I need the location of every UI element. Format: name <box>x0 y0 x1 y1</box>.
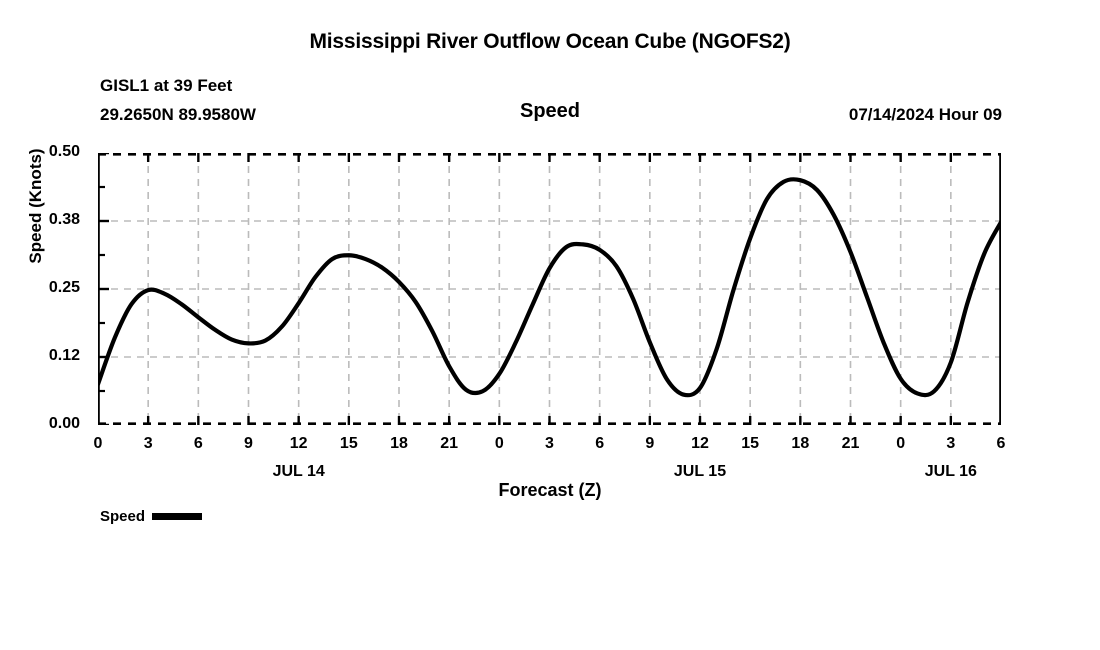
x-tick-label: 0 <box>479 435 519 453</box>
x-tick-label: 12 <box>279 435 319 453</box>
legend-swatch-speed <box>152 513 202 520</box>
x-tick-label: 21 <box>429 435 469 453</box>
chart-page: Mississippi River Outflow Ocean Cube (NG… <box>0 0 1100 650</box>
speed-line-chart <box>98 153 1001 425</box>
x-tick-label: 12 <box>680 435 720 453</box>
x-tick-label: 6 <box>178 435 218 453</box>
y-tick-label: 0.00 <box>20 415 80 433</box>
x-tick-label: 0 <box>78 435 118 453</box>
x-tick-label: 3 <box>128 435 168 453</box>
x-tick-label: 0 <box>881 435 921 453</box>
y-tick-label: 0.12 <box>20 347 80 365</box>
chart-legend: Speed <box>100 508 202 525</box>
y-tick-label: 0.50 <box>20 143 80 161</box>
x-tick-label: 21 <box>831 435 871 453</box>
x-axis-day-label: JUL 16 <box>906 463 996 481</box>
station-label: GISL1 at 39 Feet <box>100 76 232 96</box>
y-tick-label: 0.25 <box>20 279 80 297</box>
x-axis-title: Forecast (Z) <box>0 480 1100 501</box>
page-title: Mississippi River Outflow Ocean Cube (NG… <box>0 30 1100 54</box>
plot-area <box>98 153 1001 425</box>
x-tick-label: 6 <box>580 435 620 453</box>
x-tick-label: 18 <box>379 435 419 453</box>
x-axis-day-label: JUL 14 <box>254 463 344 481</box>
x-tick-label: 3 <box>931 435 971 453</box>
x-tick-label: 9 <box>630 435 670 453</box>
legend-label-speed: Speed <box>100 508 145 525</box>
x-tick-label: 15 <box>730 435 770 453</box>
x-tick-label: 9 <box>229 435 269 453</box>
x-tick-label: 15 <box>329 435 369 453</box>
x-axis-day-label: JUL 15 <box>655 463 745 481</box>
x-tick-label: 3 <box>530 435 570 453</box>
x-tick-label: 6 <box>981 435 1021 453</box>
y-tick-label: 0.38 <box>20 211 80 229</box>
model-run-timestamp: 07/14/2024 Hour 09 <box>849 105 1002 125</box>
x-tick-label: 18 <box>780 435 820 453</box>
